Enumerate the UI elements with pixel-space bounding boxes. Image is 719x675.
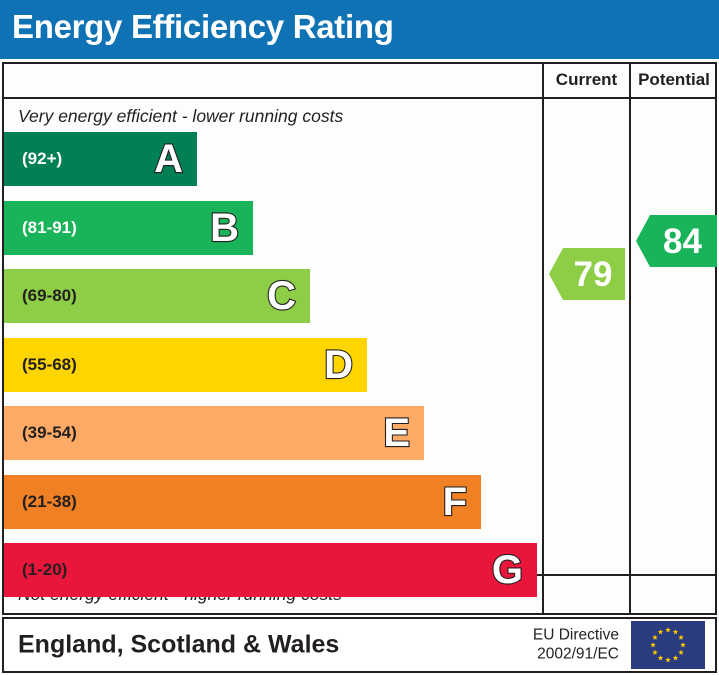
eu-directive-line2: 2002/91/EC (533, 645, 619, 664)
column-header-current: Current (544, 70, 629, 90)
band-range-f: (21-38) (22, 492, 77, 512)
band-letter-a: A (154, 139, 183, 179)
column-header-potential: Potential (631, 70, 717, 90)
footer-region-label: England, Scotland & Wales (18, 631, 339, 660)
band-range-b: (81-91) (22, 218, 77, 238)
band-g: (1-20)G (4, 543, 537, 597)
energy-efficiency-rating-chart: Energy Efficiency Rating Current Potenti… (0, 0, 719, 675)
band-letter-b: B (210, 208, 239, 248)
band-range-d: (55-68) (22, 355, 77, 375)
band-range-e: (39-54) (22, 423, 77, 443)
band-b: (81-91)B (4, 201, 253, 255)
band-d: (55-68)D (4, 338, 367, 392)
chart-body: Current Potential Very energy efficient … (2, 62, 717, 615)
rating-value-potential: 84 (651, 224, 702, 259)
eu-directive-label: EU Directive 2002/91/EC (533, 626, 619, 665)
band-range-g: (1-20) (22, 560, 67, 580)
rating-marker-current: 79 (549, 248, 625, 300)
band-letter-e: E (383, 413, 410, 453)
eu-flag-icon (631, 621, 705, 669)
rating-bands: (92+)A(81-91)B(69-80)C(55-68)D(39-54)E(2… (4, 64, 542, 613)
band-range-c: (69-80) (22, 286, 77, 306)
band-range-a: (92+) (22, 149, 62, 169)
band-letter-d: D (324, 345, 353, 385)
band-a: (92+)A (4, 132, 197, 186)
band-letter-c: C (267, 276, 296, 316)
band-letter-f: F (443, 482, 467, 522)
band-e: (39-54)E (4, 406, 424, 460)
chart-footer: England, Scotland & Wales EU Directive 2… (2, 617, 717, 673)
band-letter-g: G (492, 550, 523, 590)
page-title: Energy Efficiency Rating (12, 8, 394, 46)
current-column-divider (542, 64, 544, 613)
eu-directive-line1: EU Directive (533, 626, 619, 645)
rating-marker-potential: 84 (636, 215, 717, 267)
chart-title-bar: Energy Efficiency Rating (0, 0, 719, 59)
band-f: (21-38)F (4, 475, 481, 529)
potential-column-divider (629, 64, 631, 613)
band-c: (69-80)C (4, 269, 310, 323)
rating-value-current: 79 (562, 257, 613, 292)
